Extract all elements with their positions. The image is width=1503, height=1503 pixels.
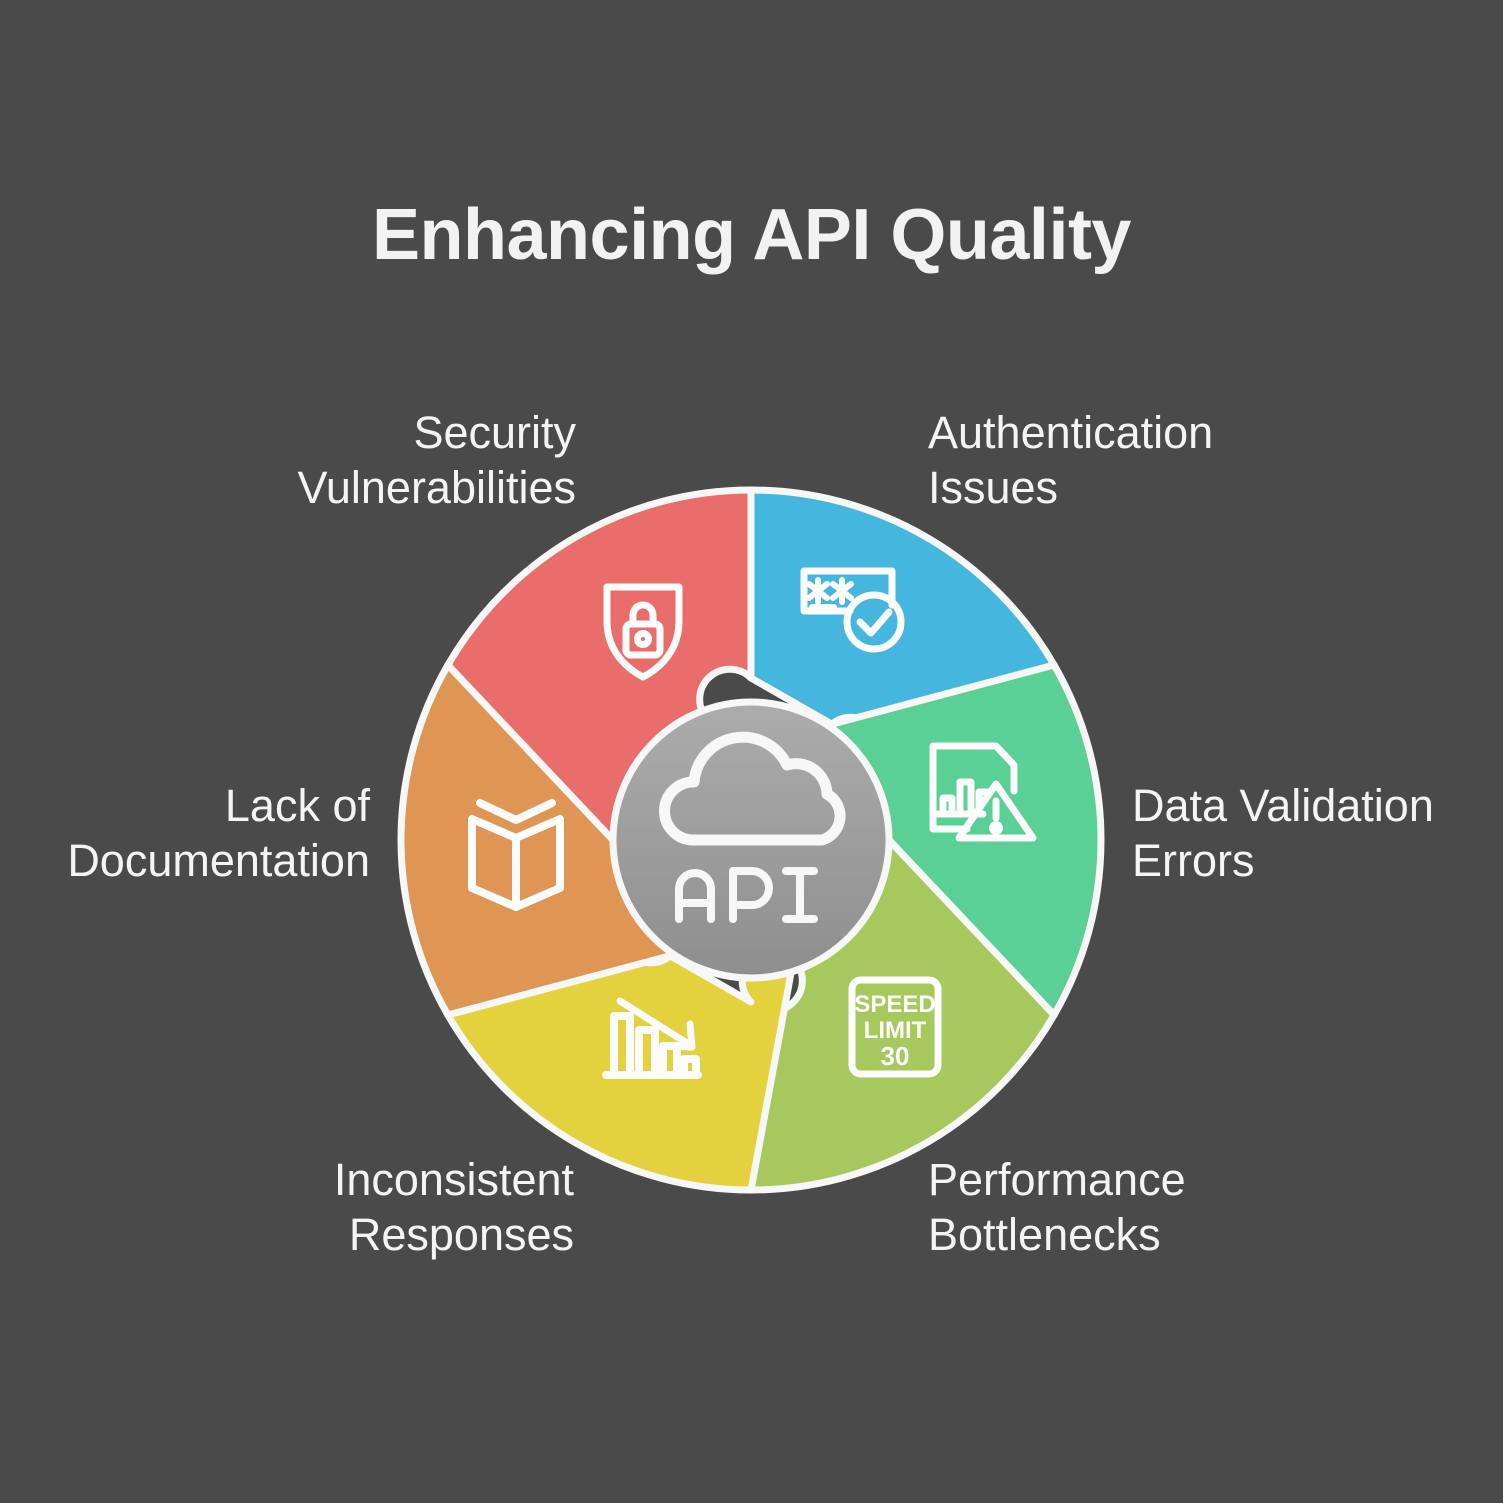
label-line-2: Bottlenecks: [928, 1207, 1348, 1262]
label-authentication-issues: Authentication Issues: [928, 405, 1348, 516]
label-line-2: Documentation: [12, 833, 370, 888]
label-performance-bottlenecks: Performance Bottlenecks: [928, 1152, 1348, 1263]
label-inconsistent-responses: Inconsistent Responses: [182, 1152, 574, 1263]
puzzle-wheel-diagram: SPEED LIMIT 30: [396, 485, 1106, 1195]
label-security-vulnerabilities: Security Vulnerabilities: [178, 405, 576, 516]
label-line-2: Vulnerabilities: [178, 460, 576, 515]
label-line-1: Authentication: [928, 405, 1348, 460]
label-line-2: Issues: [928, 460, 1348, 515]
page-title: Enhancing API Quality: [0, 196, 1503, 275]
label-line-2: Errors: [1132, 833, 1503, 888]
label-line-1: Data Validation: [1132, 778, 1503, 833]
speed-limit-line2: LIMIT: [864, 1017, 927, 1044]
label-line-1: Performance: [928, 1152, 1348, 1207]
label-line-1: Inconsistent: [182, 1152, 574, 1207]
label-data-validation-errors: Data Validation Errors: [1132, 778, 1503, 889]
speed-limit-line1: SPEED: [854, 991, 935, 1018]
speed-limit-line3: 30: [881, 1041, 910, 1071]
label-line-1: Lack of: [12, 778, 370, 833]
infographic-canvas: Enhancing API Quality: [0, 0, 1503, 1503]
label-lack-of-documentation: Lack of Documentation: [12, 778, 370, 889]
label-line-2: Responses: [182, 1207, 574, 1262]
label-line-1: Security: [178, 405, 576, 460]
